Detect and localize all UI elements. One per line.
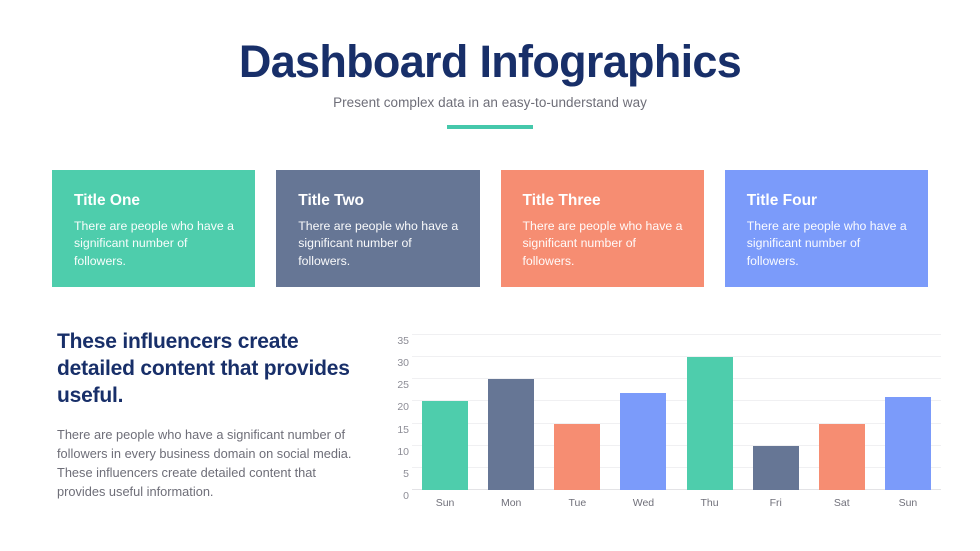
chart-x-tick-label: Wed: [610, 497, 676, 509]
chart-bar-slot: [875, 335, 941, 490]
lead-heading: These influencers create detailed conten…: [57, 328, 357, 409]
chart-x-tick-label: Sun: [412, 497, 478, 509]
cards-row: Title OneThere are people who have a sig…: [52, 170, 928, 287]
info-card-title: Title Two: [298, 192, 461, 211]
info-card-title: Title Four: [747, 192, 910, 211]
chart-bar-slot: [544, 335, 610, 490]
info-card-body: There are people who have a significant …: [523, 218, 686, 271]
chart-bar[interactable]: [422, 401, 468, 490]
info-card[interactable]: Title TwoThere are people who have a sig…: [276, 170, 479, 287]
chart-x-tick-label: Sat: [809, 497, 875, 509]
bar-chart: 05101520253035 SunMonTueWedThuFriSatSun: [383, 327, 943, 522]
chart-bar[interactable]: [753, 446, 799, 490]
chart-y-axis: 05101520253035: [383, 335, 409, 490]
chart-x-tick-label: Sun: [875, 497, 941, 509]
chart-bar-slot: [412, 335, 478, 490]
chart-bar[interactable]: [687, 357, 733, 490]
chart-bar[interactable]: [554, 424, 600, 490]
info-card[interactable]: Title ThreeThere are people who have a s…: [501, 170, 704, 287]
page-subtitle: Present complex data in an easy-to-under…: [0, 95, 980, 110]
chart-bar[interactable]: [620, 393, 666, 490]
chart-bar[interactable]: [885, 397, 931, 490]
chart-bar-slot: [478, 335, 544, 490]
chart-bar-slot: [677, 335, 743, 490]
chart-plot-area: [412, 335, 941, 490]
chart-x-tick-label: Tue: [544, 497, 610, 509]
page-title: Dashboard Infographics: [0, 38, 980, 85]
info-card[interactable]: Title FourThere are people who have a si…: [725, 170, 928, 287]
info-card-title: Title Three: [523, 192, 686, 211]
chart-x-axis: SunMonTueWedThuFriSatSun: [412, 497, 941, 509]
chart-bar-slot: [809, 335, 875, 490]
info-card-body: There are people who have a significant …: [747, 218, 910, 271]
chart-bars: [412, 335, 941, 490]
chart-x-tick-label: Mon: [478, 497, 544, 509]
lead-text-block: These influencers create detailed conten…: [57, 328, 357, 501]
chart-x-tick-label: Thu: [677, 497, 743, 509]
chart-bar-slot: [610, 335, 676, 490]
chart-x-tick-label: Fri: [743, 497, 809, 509]
chart-bar-slot: [743, 335, 809, 490]
title-divider: [447, 125, 533, 129]
lower-section: These influencers create detailed conten…: [0, 325, 980, 551]
info-card-title: Title One: [74, 192, 237, 211]
chart-bar[interactable]: [488, 379, 534, 490]
page-header: Dashboard Infographics Present complex d…: [0, 0, 980, 129]
info-card[interactable]: Title OneThere are people who have a sig…: [52, 170, 255, 287]
lead-paragraph: There are people who have a significant …: [57, 426, 357, 501]
info-card-body: There are people who have a significant …: [298, 218, 461, 271]
chart-bar[interactable]: [819, 424, 865, 490]
info-card-body: There are people who have a significant …: [74, 218, 237, 271]
